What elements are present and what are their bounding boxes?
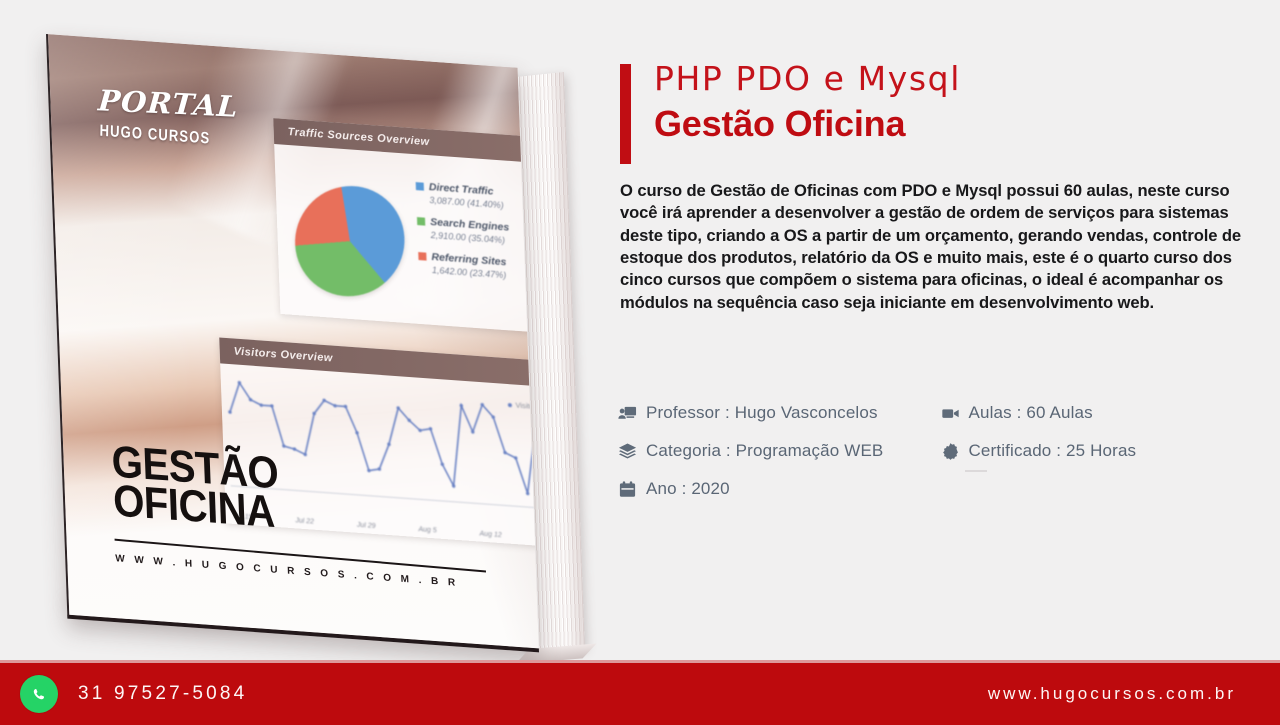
meta-text-ano: Ano : 2020 (646, 479, 730, 499)
meta-text-aulas: Aulas : 60 Aulas (969, 403, 1093, 423)
meta-row-professor: Professor : Hugo Vasconcelos (618, 394, 941, 432)
pie-graphic (287, 177, 412, 305)
meta-row-aulas: Aulas : 60 Aulas (941, 394, 1264, 432)
accent-bar (620, 64, 631, 164)
legend-item: Direct Traffic 3,087.00 (41.40%) (416, 180, 539, 213)
certificate-badge-icon (941, 442, 960, 461)
course-meta: Professor : Hugo Vasconcelos Categoria :… (618, 394, 1263, 508)
meta-row-ano: Ano : 2020 (618, 470, 941, 508)
course-info-panel: PHP PDO e Mysql Gestão Oficina O curso d… (600, 0, 1280, 660)
legend-item: Referring Sites 1,642.00 (23.47%) (418, 250, 539, 283)
whatsapp-icon[interactable] (20, 675, 58, 713)
course-title: Gestão Oficina (654, 103, 961, 145)
book-mockup: PORTAL HUGO CURSOS Traffic Sources Overv… (0, 0, 600, 660)
faint-artifact (965, 470, 987, 472)
legend-swatch-referring (418, 252, 426, 261)
book-cover: PORTAL HUGO CURSOS Traffic Sources Overv… (46, 34, 539, 652)
meta-column-left: Professor : Hugo Vasconcelos Categoria :… (618, 394, 941, 508)
meta-text-professor: Professor : Hugo Vasconcelos (646, 403, 878, 423)
meta-text-certificado: Certificado : 25 Horas (969, 441, 1137, 461)
traffic-pie-chart: Direct Traffic 3,087.00 (41.40%) Search … (287, 165, 539, 323)
legend-swatch-direct (416, 182, 424, 191)
meta-text-categoria: Categoria : Programação WEB (646, 441, 883, 461)
cover-chart-panel-traffic: Traffic Sources Overview Direct Traffic … (273, 118, 539, 333)
calendar-icon (618, 480, 637, 499)
legend-swatch-search (417, 217, 425, 226)
footer-bar: 31 97527-5084 www.hugocursos.com.br (0, 663, 1280, 725)
meta-row-categoria: Categoria : Programação WEB (618, 432, 941, 470)
traffic-legend: Direct Traffic 3,087.00 (41.40%) Search … (416, 180, 539, 294)
title-group: PHP PDO e Mysql Gestão Oficina (620, 60, 961, 145)
course-subtitle: PHP PDO e Mysql (654, 60, 961, 99)
cover-brand-name: PORTAL (97, 84, 240, 124)
course-description: O curso de Gestão de Oficinas com PDO e … (620, 180, 1255, 314)
footer-phone[interactable]: 31 97527-5084 (78, 683, 247, 705)
legend-item: Search Engines 2,910.00 (35.04%) (417, 215, 539, 248)
video-camera-icon (941, 404, 960, 423)
layers-icon (618, 442, 637, 461)
footer-website[interactable]: www.hugocursos.com.br (988, 684, 1236, 704)
meta-column-right: Aulas : 60 Aulas Certificado : 25 Horas (941, 394, 1264, 508)
book-3d: PORTAL HUGO CURSOS Traffic Sources Overv… (46, 34, 539, 652)
presentation-screen-icon (618, 404, 637, 423)
cover-logo: PORTAL HUGO CURSOS (98, 82, 240, 148)
meta-row-certificado: Certificado : 25 Horas (941, 432, 1264, 470)
